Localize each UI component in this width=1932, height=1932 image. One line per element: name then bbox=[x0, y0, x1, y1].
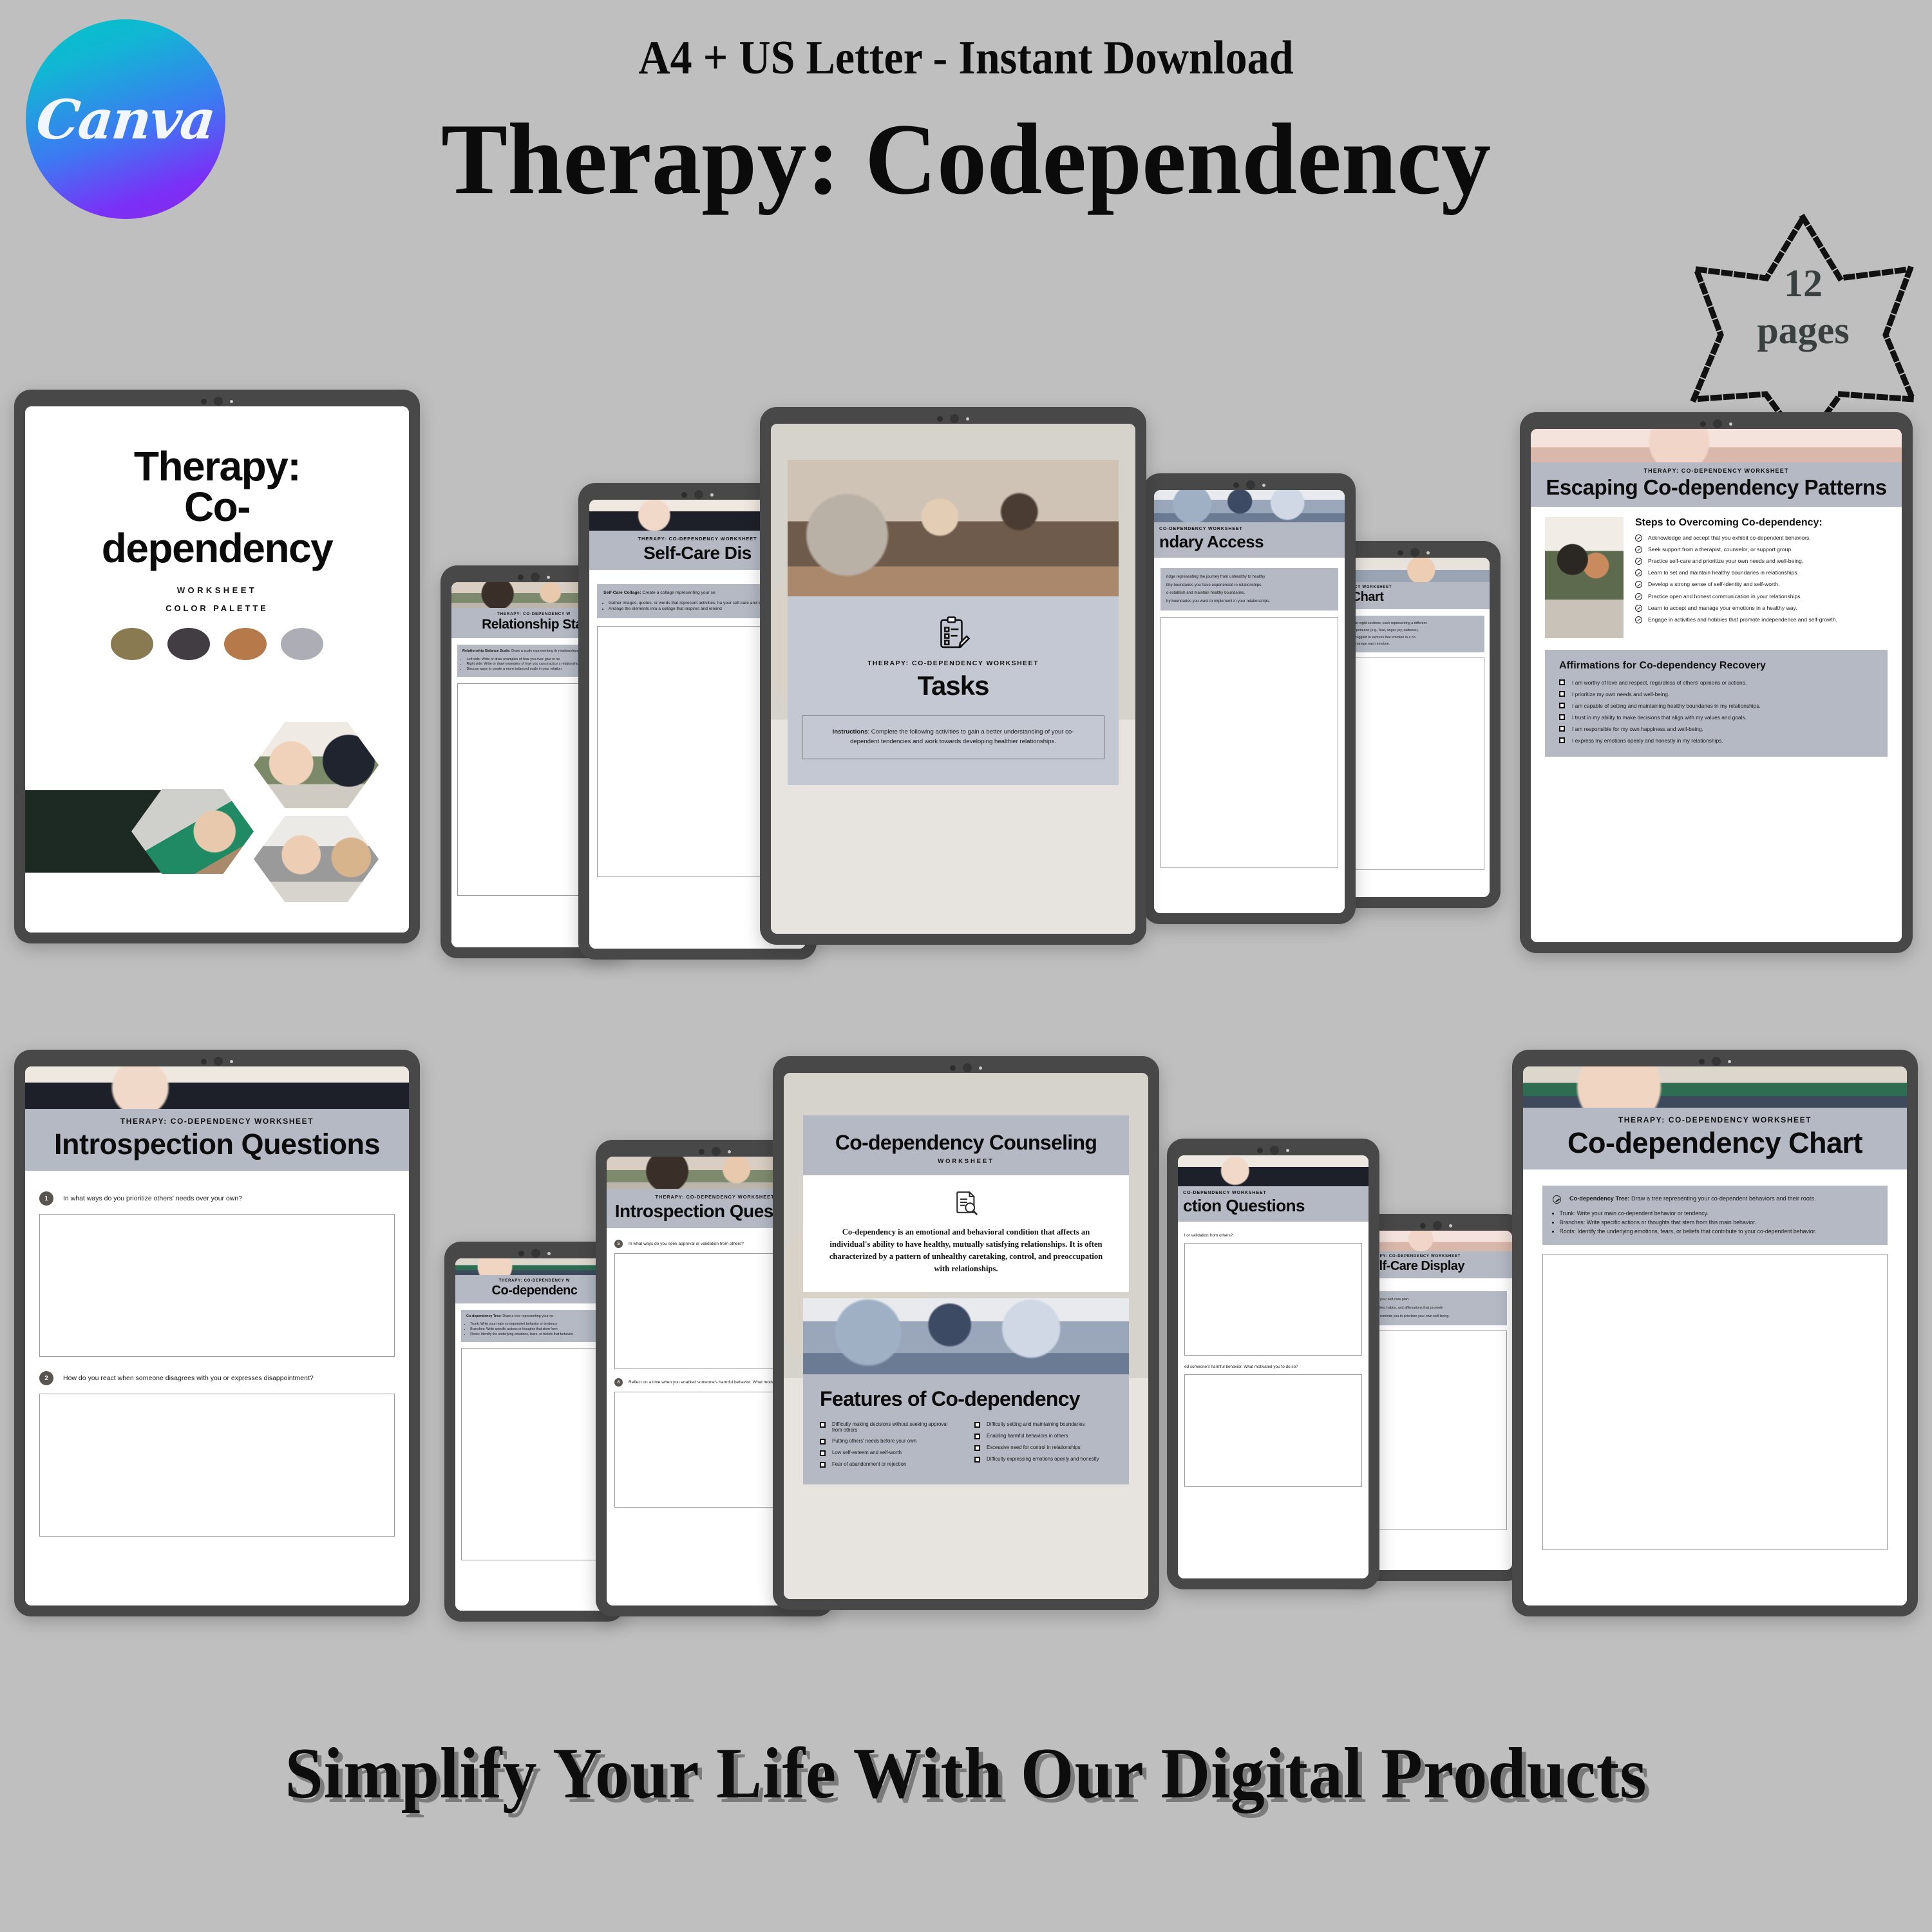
feature-text: Putting others' needs before your own bbox=[832, 1438, 916, 1444]
cover-photo-distress bbox=[254, 816, 379, 902]
task-label: Self-Care Collage: bbox=[603, 591, 641, 595]
header-photo bbox=[1154, 490, 1345, 522]
affirmation-item: I trust in my ability to make decisions … bbox=[1559, 714, 1873, 721]
cover-label-palette: COLOR PALETTE bbox=[25, 603, 409, 613]
worksheet-title: Co-dependency Counseling bbox=[810, 1131, 1122, 1155]
cover-title-line3: dependency bbox=[43, 528, 391, 569]
footer-tagline: Simplify Your Life With Our Digital Prod… bbox=[48, 1732, 1884, 1815]
checkbox[interactable] bbox=[1559, 703, 1565, 708]
affirmation-text: I am worthy of love and respect, regardl… bbox=[1572, 679, 1747, 686]
answer-field[interactable] bbox=[1184, 1243, 1362, 1356]
feature-item: Putting others' needs before your own bbox=[820, 1438, 958, 1444]
step-item: Acknowledge and accept that you exhibit … bbox=[1635, 535, 1888, 542]
feature-text: Low self-esteem and self-worth bbox=[832, 1450, 902, 1456]
worksheet-page: THERAPY: CO-DEPENDENCY WORKSHEET Tasks I… bbox=[788, 460, 1119, 863]
info-line: ou struggled to express that emotion in … bbox=[1348, 634, 1479, 641]
feature-item: Enabling harmful behaviors in others bbox=[974, 1433, 1112, 1439]
header-photo bbox=[1531, 429, 1902, 462]
tablet-counseling[interactable]: Co-dependency Counseling WORKSHEET Co-de… bbox=[773, 1056, 1159, 1610]
worksheet-page: Co-dependency Counseling WORKSHEET Co-de… bbox=[803, 1115, 1129, 1551]
features-heading: Features of Co-dependency bbox=[820, 1387, 1112, 1411]
tablet-tasks[interactable]: THERAPY: CO-DEPENDENCY WORKSHEET Tasks I… bbox=[760, 407, 1146, 945]
info-line: ...ting your self-care plan. bbox=[1370, 1296, 1502, 1304]
steps-heading: Steps to Overcoming Co-dependency: bbox=[1635, 517, 1888, 529]
worksheet-page: NDENCY WORKSHEET s Chart ed into eight s… bbox=[1338, 558, 1490, 897]
feature-item: Low self-esteem and self-worth bbox=[820, 1450, 958, 1456]
affirmations-heading: Affirmations for Co-dependency Recovery bbox=[1559, 660, 1873, 672]
info-line: ...ctivities, habits, and affirmations t… bbox=[1370, 1304, 1502, 1312]
info-line: ridge representing the journey from unhe… bbox=[1166, 573, 1332, 581]
feature-text: Difficulty setting and maintaining bound… bbox=[987, 1421, 1084, 1428]
step-item: Practice self-care and prioritize your o… bbox=[1635, 558, 1888, 565]
affirmation-text: I prioritize my own needs and well-being… bbox=[1572, 691, 1669, 697]
affirmation-item: I am capable of setting and maintaining … bbox=[1559, 703, 1873, 709]
step-item: Engage in activities and hobbies that pr… bbox=[1635, 616, 1888, 623]
question-text: ed someone's harmful behavior. What moti… bbox=[1184, 1365, 1362, 1369]
bullet-item: Trunk: Write your main co-dependent beha… bbox=[470, 1322, 603, 1327]
step-text: Acknowledge and accept that you exhibit … bbox=[1648, 535, 1811, 542]
tablet-screen: Co-dependency Counseling WORKSHEET Co-de… bbox=[784, 1073, 1148, 1599]
affirmation-item: I express my emotions openly and honestl… bbox=[1559, 737, 1873, 744]
info-line: hy boundaries you want to implement in y… bbox=[1166, 598, 1332, 605]
feature-text: Difficulty making decisions without seek… bbox=[832, 1421, 958, 1433]
check-circle-icon bbox=[1635, 535, 1642, 542]
checkbox[interactable] bbox=[820, 1462, 826, 1468]
tablet-screen: THERAPY: CO-DEPENDENCY W Co-dependenc Co… bbox=[455, 1258, 614, 1611]
question-text: In what ways do you seek approval or val… bbox=[629, 1242, 744, 1246]
document-magnifier-icon bbox=[829, 1189, 1103, 1218]
check-circle-icon bbox=[1553, 1195, 1561, 1204]
step-text: Seek support from a therapist, counselor… bbox=[1648, 546, 1793, 553]
checkbox[interactable] bbox=[1559, 737, 1565, 743]
header-subtitle: A4 + US Letter - Instant Download bbox=[77, 31, 1855, 86]
tablet-camera-dots bbox=[14, 395, 420, 407]
instructions-label: Instructions bbox=[833, 728, 868, 735]
worksheet-kicker: THERAPY: CO-DEPENDENCY WORKSHEET bbox=[1364, 1255, 1508, 1258]
definition-text: Co-dependency is an emotional and behavi… bbox=[829, 1226, 1103, 1275]
feature-item: Difficulty setting and maintaining bound… bbox=[974, 1421, 1112, 1428]
header-photo bbox=[1338, 558, 1490, 582]
worksheet-subtitle: WORKSHEET bbox=[810, 1158, 1122, 1165]
feature-text: Difficulty expressing emotions openly an… bbox=[987, 1456, 1099, 1463]
checkbox[interactable] bbox=[974, 1445, 980, 1451]
question-text: How do you react when someone disagrees … bbox=[63, 1374, 314, 1382]
step-text: Practice self-care and prioritize your o… bbox=[1648, 558, 1803, 565]
bullet-item: Roots: Identify the underlying emotions,… bbox=[470, 1332, 603, 1338]
cover-page: Therapy: Co- dependency WORKSHEET COLOR … bbox=[25, 406, 409, 933]
checkbox[interactable] bbox=[820, 1450, 826, 1456]
worksheet-title: Tasks bbox=[802, 670, 1104, 701]
tablet-escaping-patterns[interactable]: THERAPY: CO-DEPENDENCY WORKSHEET Escapin… bbox=[1520, 412, 1913, 953]
swatch-terracotta bbox=[224, 628, 267, 660]
cover-title-line2: Co- bbox=[43, 487, 391, 527]
clipboard-checklist-pencil-icon bbox=[802, 616, 1104, 650]
affirmation-text: I express my emotions openly and honestl… bbox=[1572, 737, 1723, 744]
check-circle-icon bbox=[1635, 616, 1642, 623]
tablet-camera-dots bbox=[760, 413, 1146, 424]
feature-text: Excessive need for control in relationsh… bbox=[987, 1444, 1081, 1451]
check-circle-icon bbox=[1635, 546, 1642, 553]
tablet-screen: THERAPY: CO-DEPENDENCY WORKSHEET Introsp… bbox=[25, 1066, 409, 1605]
checkbox[interactable] bbox=[1559, 714, 1565, 720]
drawing-area[interactable] bbox=[1160, 617, 1338, 868]
worksheet-page: THERAPY: CO-DEPENDENCY WORKSHEET Introsp… bbox=[25, 1066, 409, 1605]
swatch-olive bbox=[111, 628, 153, 660]
tablet-introspection-questions-mini[interactable]: CO-DEPENDENCY WORKSHEET ction Questions … bbox=[1167, 1139, 1379, 1589]
worksheet-page: THERAPY: CO-DEPENDENCY WORKSHEET Co-depe… bbox=[1523, 1066, 1907, 1605]
page-title: Therapy: Codependency bbox=[19, 106, 1913, 213]
bullet-item: Roots: Identify the underlying emotions,… bbox=[1560, 1227, 1877, 1236]
checkbox[interactable] bbox=[820, 1439, 826, 1444]
checkbox[interactable] bbox=[1559, 691, 1565, 697]
header-photo bbox=[1360, 1231, 1512, 1251]
step-text: Learn to set and maintain healthy bounda… bbox=[1648, 569, 1799, 576]
question-number: 2 bbox=[39, 1371, 53, 1385]
task-text: Draw a tree representing your co-depende… bbox=[1629, 1195, 1815, 1202]
worksheet-page: CO-DEPENDENCY WORKSHEET ction Questions … bbox=[1178, 1155, 1368, 1578]
swatch-gray bbox=[281, 628, 323, 660]
badge-unit: pages bbox=[1681, 307, 1926, 354]
step-text: Practice open and honest communication i… bbox=[1648, 593, 1802, 600]
instructions-text: : Complete the following activities to g… bbox=[850, 728, 1074, 745]
worksheet-kicker: THERAPY: CO-DEPENDENCY W bbox=[459, 1279, 610, 1283]
tablet-camera-dots bbox=[1143, 479, 1356, 491]
drawing-area[interactable] bbox=[1365, 1331, 1507, 1530]
worksheet-kicker: NDENCY WORKSHEET bbox=[1341, 585, 1486, 589]
step-item: Learn to accept and manage your emotions… bbox=[1635, 605, 1888, 612]
worksheet-page: THERAPY: CO-DEPENDENCY WORKSHEET Self-Ca… bbox=[1360, 1231, 1512, 1570]
worksheet-title: ction Questions bbox=[1183, 1197, 1363, 1215]
feature-item: Difficulty expressing emotions openly an… bbox=[974, 1456, 1112, 1463]
affirmation-text: I am capable of setting and maintaining … bbox=[1572, 703, 1761, 709]
affirmation-item: I am worthy of love and respect, regardl… bbox=[1559, 679, 1873, 686]
task-text: Create a collage representing your se bbox=[641, 591, 715, 595]
step-text: Develop a strong sense of self-identity … bbox=[1648, 581, 1779, 588]
question-text: l or validation from others? bbox=[1184, 1233, 1362, 1238]
check-circle-icon bbox=[1635, 569, 1642, 576]
worksheet-title: Self-Care Display bbox=[1364, 1260, 1508, 1273]
question-number: 5 bbox=[614, 1240, 623, 1248]
info-line: lthy boundaries you have experienced in … bbox=[1166, 582, 1332, 589]
worksheet-title: Co-dependency Chart bbox=[1529, 1128, 1900, 1158]
checkbox[interactable] bbox=[820, 1422, 826, 1428]
worksheet-kicker: CO-DEPENDENCY WORKSHEET bbox=[1159, 527, 1340, 531]
tablet-screen: NDENCY WORKSHEET s Chart ed into eight s… bbox=[1338, 558, 1490, 897]
drawing-area[interactable] bbox=[461, 1348, 608, 1560]
worksheet-page: CO-DEPENDENCY WORKSHEET ndary Access rid… bbox=[1154, 490, 1345, 913]
answer-field[interactable] bbox=[1184, 1374, 1362, 1487]
swatch-charcoal bbox=[167, 628, 210, 660]
hero-photo bbox=[788, 460, 1119, 596]
task-label: Co-dependency Tree: bbox=[1569, 1195, 1629, 1202]
affirmation-item: I prioritize my own needs and well-being… bbox=[1559, 691, 1873, 697]
checkbox[interactable] bbox=[1559, 679, 1565, 685]
check-circle-icon bbox=[1635, 581, 1642, 588]
info-line: ...and reminds you to prioritize your ow… bbox=[1370, 1312, 1502, 1321]
tablet-screen: THERAPY: CO-DEPENDENCY WORKSHEET Self-Ca… bbox=[1360, 1231, 1512, 1570]
affirmation-item: I am responsible for my own happiness an… bbox=[1559, 726, 1873, 732]
worksheet-kicker: CO-DEPENDENCY WORKSHEET bbox=[1183, 1191, 1363, 1195]
group-photo bbox=[803, 1298, 1129, 1374]
worksheet-title: ndary Access bbox=[1159, 533, 1340, 551]
question-number: 1 bbox=[39, 1191, 53, 1206]
tablet-screen: THERAPY: CO-DEPENDENCY WORKSHEET Co-depe… bbox=[1523, 1066, 1907, 1605]
tablet-camera-dots bbox=[1167, 1144, 1379, 1156]
worksheet-kicker: THERAPY: CO-DEPENDENCY WORKSHEET bbox=[1533, 468, 1899, 474]
step-item: Practice open and honest communication i… bbox=[1635, 593, 1888, 600]
tablet-codependency-chart[interactable]: THERAPY: CO-DEPENDENCY WORKSHEET Co-depe… bbox=[1512, 1050, 1918, 1616]
drawing-area[interactable] bbox=[1542, 1254, 1888, 1550]
worksheet-page: THERAPY: CO-DEPENDENCY W Co-dependenc Co… bbox=[455, 1258, 614, 1611]
worksheet-title: Introspection Questions bbox=[32, 1129, 402, 1159]
tablet-camera-dots bbox=[773, 1062, 1159, 1074]
worksheet-kicker: THERAPY: CO-DEPENDENCY WORKSHEET bbox=[802, 659, 1104, 667]
task-text: Draw a scale representing th relationshi… bbox=[511, 649, 580, 653]
affirmation-text: I trust in my ability to make decisions … bbox=[1572, 714, 1747, 721]
info-line: tly experience (e.g., fear, anger, joy, … bbox=[1348, 627, 1479, 634]
color-palette bbox=[25, 628, 409, 660]
worksheet-title: Co-dependenc bbox=[459, 1284, 610, 1298]
cover-title-line1: Therapy: bbox=[43, 446, 391, 487]
feature-text: Fear of abandonment or rejection bbox=[832, 1461, 906, 1468]
tablet-camera-dots bbox=[14, 1056, 420, 1067]
answer-field[interactable] bbox=[39, 1214, 395, 1357]
cover-label-worksheet: WORKSHEET bbox=[25, 585, 409, 595]
tablet-screen: THERAPY: CO-DEPENDENCY WORKSHEET Escapin… bbox=[1531, 429, 1902, 942]
question-text: In what ways do you prioritize others' n… bbox=[63, 1195, 242, 1202]
check-circle-icon bbox=[1635, 605, 1642, 612]
header-photo bbox=[455, 1258, 614, 1275]
checkbox[interactable] bbox=[1559, 726, 1565, 732]
task-text: Draw a tree representing your co- bbox=[502, 1314, 554, 1318]
bullet-item: Branches: Write specific actions or thou… bbox=[470, 1327, 603, 1332]
tablet-camera-dots bbox=[1512, 1056, 1918, 1067]
worksheet-title: Escaping Co-dependency Patterns bbox=[1533, 477, 1899, 499]
checkbox[interactable] bbox=[974, 1457, 980, 1463]
task-label: Co-dependency Tree: bbox=[466, 1314, 502, 1318]
worksheet-page: THERAPY: CO-DEPENDENCY WORKSHEET Escapin… bbox=[1531, 429, 1902, 942]
checkbox[interactable] bbox=[974, 1422, 980, 1428]
badge-text: 12 pages bbox=[1681, 260, 1926, 354]
tablet-introspection-questions-a[interactable]: THERAPY: CO-DEPENDENCY WORKSHEET Introsp… bbox=[14, 1050, 420, 1616]
step-text: Learn to accept and manage your emotions… bbox=[1648, 605, 1797, 612]
step-item: Develop a strong sense of self-identity … bbox=[1635, 581, 1888, 588]
header-photo bbox=[1178, 1155, 1368, 1186]
drawing-area[interactable] bbox=[1343, 658, 1484, 870]
affirmation-text: I am responsible for my own happiness an… bbox=[1572, 726, 1703, 732]
badge-count: 12 bbox=[1681, 260, 1926, 307]
feature-item: Fear of abandonment or rejection bbox=[820, 1461, 958, 1468]
question-number: 6 bbox=[614, 1378, 623, 1387]
check-circle-icon bbox=[1635, 593, 1642, 600]
worksheet-kicker: THERAPY: CO-DEPENDENCY WORKSHEET bbox=[1529, 1115, 1900, 1124]
feature-item: Difficulty making decisions without seek… bbox=[820, 1421, 958, 1433]
worksheet-kicker: THERAPY: CO-DEPENDENCY WORKSHEET bbox=[32, 1117, 402, 1126]
couple-photo bbox=[1545, 517, 1624, 638]
tablet-screen: Therapy: Co- dependency WORKSHEET COLOR … bbox=[25, 406, 409, 933]
header-photo bbox=[1523, 1066, 1907, 1108]
step-item: Seek support from a therapist, counselor… bbox=[1635, 546, 1888, 553]
info-line: o establish and maintain healthy boundar… bbox=[1166, 589, 1332, 597]
step-text: Engage in activities and hobbies that pr… bbox=[1648, 616, 1837, 623]
tablet-camera-dots bbox=[1520, 418, 1913, 430]
feature-item: Excessive need for control in relationsh… bbox=[974, 1444, 1112, 1451]
header-photo bbox=[25, 1066, 409, 1109]
tablet-screen: THERAPY: CO-DEPENDENCY WORKSHEET Tasks I… bbox=[771, 424, 1135, 934]
tablet-screen: CO-DEPENDENCY WORKSHEET ndary Access rid… bbox=[1154, 490, 1345, 913]
check-circle-icon bbox=[1635, 558, 1642, 565]
step-item: Learn to set and maintain healthy bounda… bbox=[1635, 569, 1888, 576]
bullet-item: Branches: Write specific actions or thou… bbox=[1560, 1218, 1877, 1227]
tablet-boundary-access[interactable]: CO-DEPENDENCY WORKSHEET ndary Access rid… bbox=[1143, 473, 1356, 924]
worksheet-title: s Chart bbox=[1341, 591, 1486, 604]
feature-text: Enabling harmful behaviors in others bbox=[987, 1433, 1068, 1439]
info-line: ed into eight sections, each representin… bbox=[1348, 620, 1479, 627]
answer-field[interactable] bbox=[39, 1394, 395, 1537]
task-label: Relationship Balance Scale: bbox=[462, 649, 511, 653]
info-line: and manage each emotion. bbox=[1348, 641, 1479, 648]
tablet-screen: CO-DEPENDENCY WORKSHEET ction Questions … bbox=[1178, 1155, 1368, 1578]
checkbox[interactable] bbox=[974, 1434, 980, 1439]
tablet-cover[interactable]: Therapy: Co- dependency WORKSHEET COLOR … bbox=[14, 390, 420, 943]
cover-photo-counseling bbox=[254, 722, 379, 808]
bullet-item: Trunk: Write your main co-dependent beha… bbox=[1560, 1209, 1877, 1218]
